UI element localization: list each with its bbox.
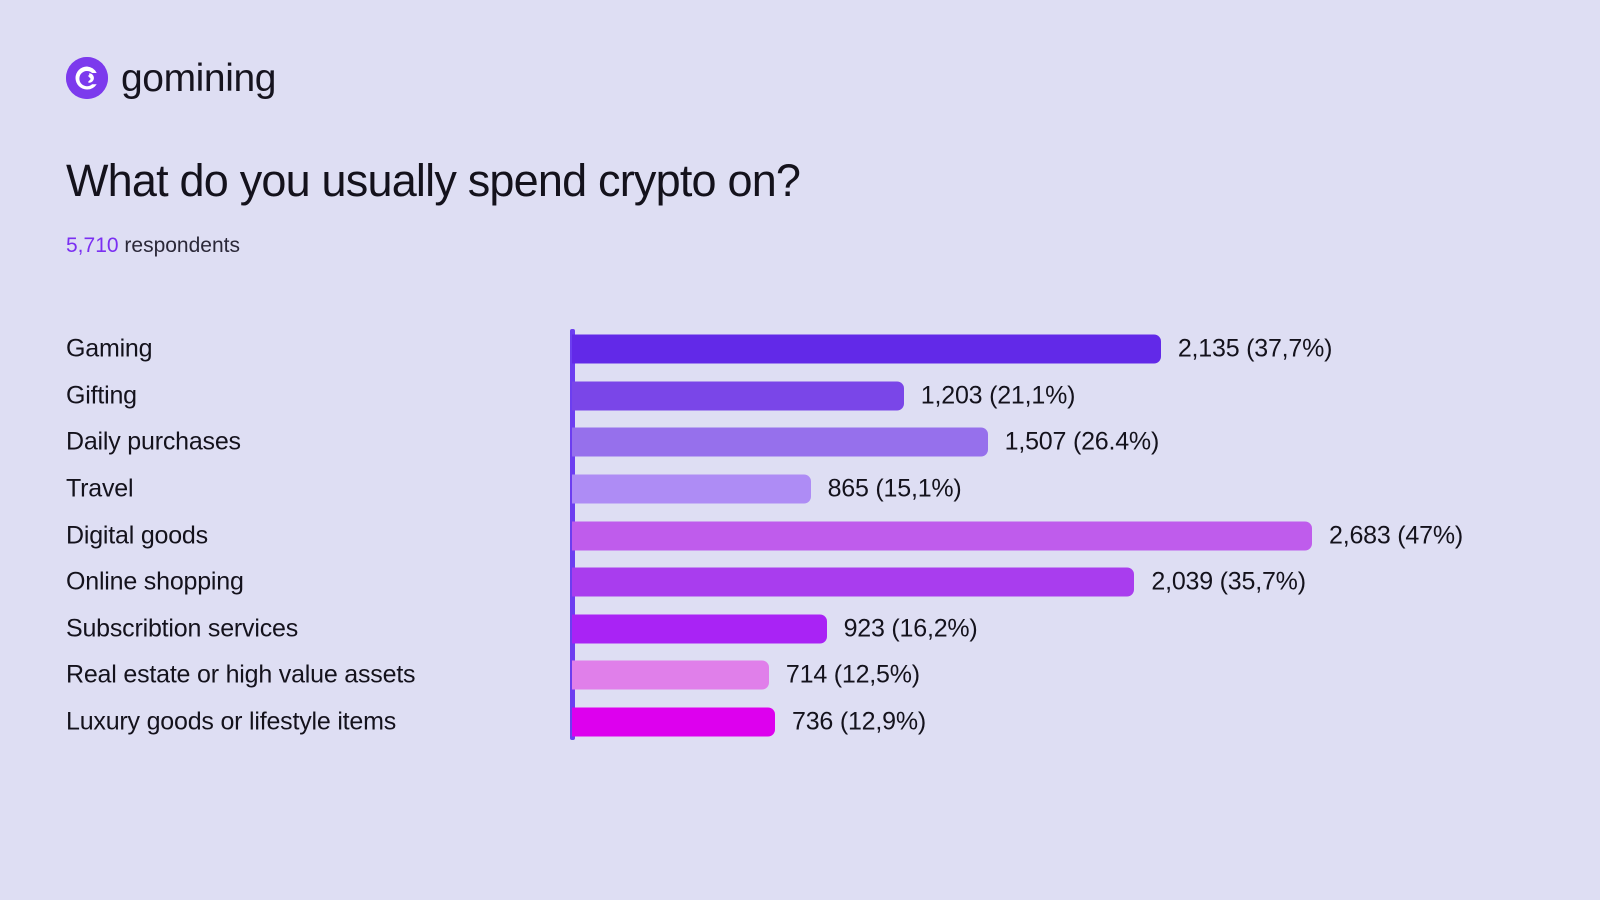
bar-area: 865 (15,1%)	[572, 475, 1546, 504]
bar-area: 923 (16,2%)	[572, 614, 1546, 643]
bar-area: 1,203 (21,1%)	[572, 381, 1546, 410]
brand-name: gomining	[121, 59, 276, 98]
category-label: Travel	[66, 475, 133, 503]
chart-row: Gaming2,135 (37,7%)	[66, 326, 1546, 373]
chart-rows: Gaming2,135 (37,7%)Gifting1,203 (21,1%)D…	[66, 326, 1546, 745]
bar-area: 714 (12,5%)	[572, 661, 1546, 690]
bar-area: 2,683 (47%)	[572, 521, 1546, 550]
bar-value-label: 2,683 (47%)	[1329, 523, 1463, 548]
chart-row: Daily purchases1,507 (26.4%)	[66, 419, 1546, 466]
bar	[572, 381, 904, 410]
category-label: Real estate or high value assets	[66, 662, 415, 690]
bar	[572, 614, 827, 643]
bar-value-label: 923 (16,2%)	[844, 616, 978, 641]
respondents-label: respondents	[119, 234, 240, 257]
page-title: What do you usually spend crypto on?	[66, 157, 800, 206]
bar-area: 736 (12,9%)	[572, 708, 1546, 737]
bar-value-label: 1,203 (21,1%)	[921, 383, 1075, 408]
bar	[572, 708, 775, 737]
gomining-logo-icon	[66, 57, 108, 99]
bar	[572, 475, 811, 504]
category-label: Gaming	[66, 336, 152, 364]
bar-value-label: 736 (12,9%)	[792, 710, 926, 735]
category-label: Daily purchases	[66, 429, 241, 457]
bar-area: 1,507 (26.4%)	[572, 428, 1546, 457]
chart-row: Luxury goods or lifestyle items736 (12,9…	[66, 699, 1546, 746]
bar-value-label: 1,507 (26.4%)	[1005, 430, 1159, 455]
category-label: Luxury goods or lifestyle items	[66, 708, 396, 736]
bar	[572, 521, 1312, 550]
category-label: Online shopping	[66, 569, 244, 597]
bar	[572, 661, 769, 690]
chart-row: Real estate or high value assets714 (12,…	[66, 652, 1546, 699]
chart-row: Travel865 (15,1%)	[66, 466, 1546, 513]
chart-row: Gifting1,203 (21,1%)	[66, 373, 1546, 420]
respondents-subtitle: 5,710 respondents	[66, 233, 240, 259]
chart-row: Subscribtion services923 (16,2%)	[66, 606, 1546, 653]
bar	[572, 568, 1134, 597]
bar-value-label: 865 (15,1%)	[828, 477, 962, 502]
bar-value-label: 2,135 (37,7%)	[1178, 337, 1332, 362]
bar	[572, 335, 1161, 364]
infographic-page: gomining What do you usually spend crypt…	[0, 0, 1600, 900]
chart-row: Digital goods2,683 (47%)	[66, 512, 1546, 559]
bar-area: 2,039 (35,7%)	[572, 568, 1546, 597]
category-label: Subscribtion services	[66, 615, 298, 643]
category-label: Digital goods	[66, 522, 208, 550]
chart-row: Online shopping2,039 (35,7%)	[66, 559, 1546, 606]
category-label: Gifting	[66, 382, 137, 410]
respondents-count: 5,710	[66, 234, 119, 257]
bar	[572, 428, 988, 457]
bar-value-label: 714 (12,5%)	[786, 663, 920, 688]
bar-value-label: 2,039 (35,7%)	[1151, 570, 1305, 595]
bar-chart: Gaming2,135 (37,7%)Gifting1,203 (21,1%)D…	[66, 326, 1546, 746]
bar-area: 2,135 (37,7%)	[572, 335, 1546, 364]
brand-logo: gomining	[66, 57, 276, 99]
